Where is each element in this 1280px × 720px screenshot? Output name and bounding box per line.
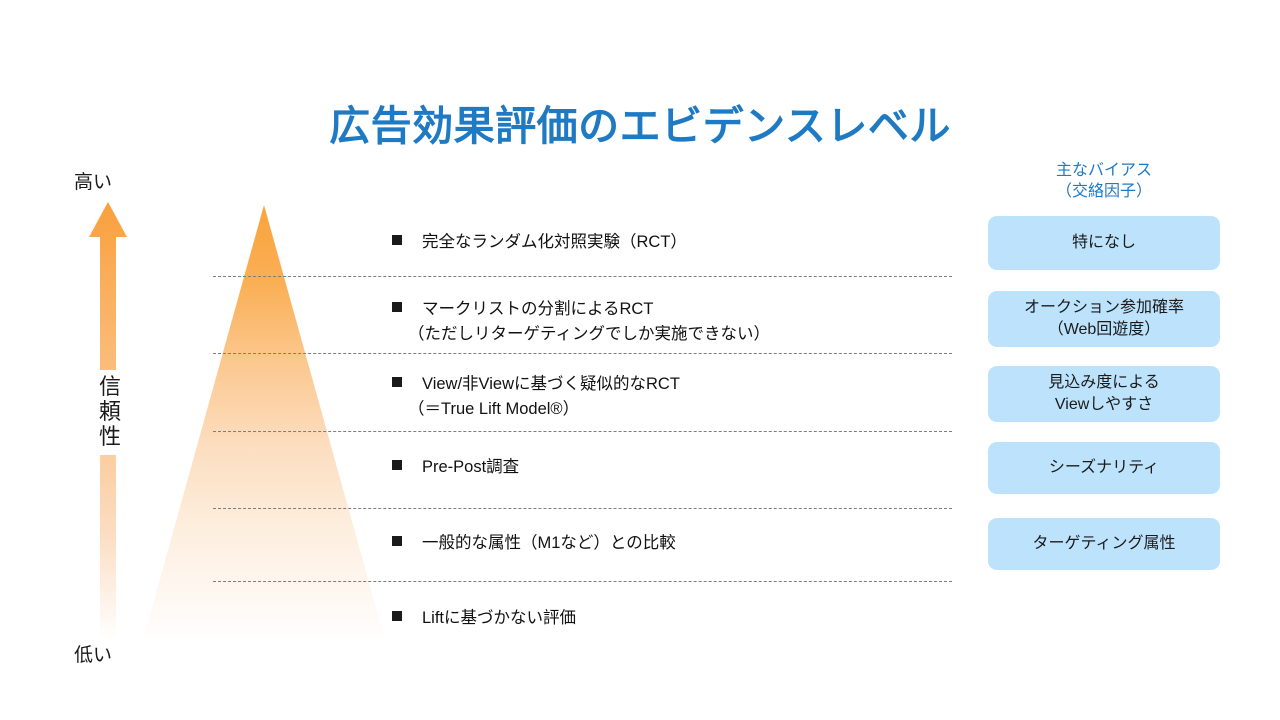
- tier-label-5-line1: 一般的な属性（M1など）との比較: [422, 531, 932, 556]
- tier-label-3-line1: View/非Viewに基づく疑似的なRCT: [422, 372, 932, 397]
- bias-box-2: オークション参加確率 （Web回遊度）: [988, 291, 1220, 347]
- bullet-square-icon: [392, 536, 402, 546]
- bias-box-3-line1: 見込み度による: [1048, 372, 1160, 394]
- axis-label-char-3: 性: [97, 424, 123, 449]
- axis-low-label: 低い: [74, 640, 112, 667]
- bias-box-3: 見込み度による Viewしやすさ: [988, 366, 1220, 422]
- tier-divider-4: [213, 508, 952, 509]
- axis-label-char-2: 頼: [97, 399, 123, 424]
- axis-high-label: 高い: [74, 167, 112, 194]
- bullet-square-icon: [392, 302, 402, 312]
- tier-divider-2: [213, 353, 952, 354]
- bullet-square-icon: [392, 377, 402, 387]
- bias-column-header: 主なバイアス （交絡因子）: [988, 160, 1220, 202]
- bias-box-1: 特になし: [988, 216, 1220, 270]
- slide-canvas: 広告効果評価のエビデンスレベル 高い 信 頼 性 低い: [0, 0, 1280, 720]
- tier-divider-5: [213, 581, 952, 582]
- tier-label-3-line2: （＝True Lift Model®）: [408, 397, 932, 422]
- tier-item-2: マークリストの分割によるRCT （ただしリターゲティングでしか実施できない）: [392, 297, 932, 347]
- bias-box-5: ターゲティング属性: [988, 518, 1220, 570]
- page-title: 広告効果評価のエビデンスレベル: [0, 92, 1280, 152]
- tier-item-1: 完全なランダム化対照実験（RCT）: [392, 230, 932, 255]
- tier-item-3: View/非Viewに基づく疑似的なRCT （＝True Lift Model®…: [392, 372, 932, 422]
- axis-reliability-label: 信 頼 性: [97, 370, 123, 455]
- bias-box-4-line1: シーズナリティ: [1049, 457, 1159, 479]
- tier-label-1-line1: 完全なランダム化対照実験（RCT）: [422, 230, 932, 255]
- bias-box-2-line1: オークション参加確率: [1024, 297, 1184, 319]
- bias-box-1-line1: 特になし: [1072, 232, 1136, 254]
- tier-item-6: Liftに基づかない評価: [392, 606, 932, 631]
- tier-divider-3: [213, 431, 952, 432]
- tier-divider-1: [213, 276, 952, 277]
- bias-box-5-line1: ターゲティング属性: [1032, 533, 1175, 555]
- bias-box-2-line2: （Web回遊度）: [1048, 319, 1161, 341]
- bullet-square-icon: [392, 235, 402, 245]
- tier-item-4: Pre-Post調査: [392, 455, 932, 480]
- bias-header-line1: 主なバイアス: [988, 160, 1220, 181]
- bias-header-line2: （交絡因子）: [988, 181, 1220, 202]
- bullet-square-icon: [392, 460, 402, 470]
- tier-label-2-line2: （ただしリターゲティングでしか実施できない）: [408, 322, 932, 347]
- bias-box-3-line2: Viewしやすさ: [1055, 394, 1153, 416]
- tier-label-2-line1: マークリストの分割によるRCT: [422, 297, 932, 322]
- tier-label-6-line1: Liftに基づかない評価: [422, 606, 932, 631]
- tier-item-5: 一般的な属性（M1など）との比較: [392, 531, 932, 556]
- bullet-square-icon: [392, 611, 402, 621]
- tier-label-4-line1: Pre-Post調査: [422, 455, 932, 480]
- axis-label-char-1: 信: [97, 374, 123, 399]
- bias-box-4: シーズナリティ: [988, 442, 1220, 494]
